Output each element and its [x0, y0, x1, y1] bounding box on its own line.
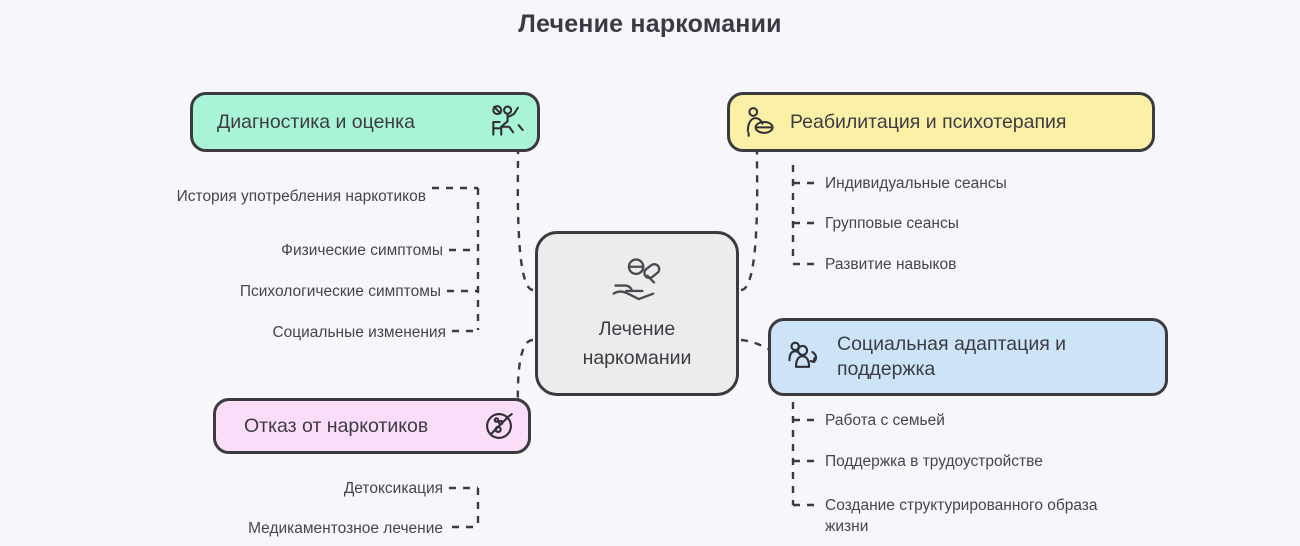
leaf-social-3: Создание структурированного образа жизни	[825, 495, 1130, 537]
leaf-rehab-2: Групповые сеансы	[825, 213, 959, 234]
wire-center-diagnostics	[518, 152, 533, 290]
branch-node-diagnostics[interactable]: Диагностика и оценка	[190, 92, 540, 152]
therapy-person-icon	[744, 105, 778, 139]
leaf-refusal-2: Медикаментозное лечение	[146, 518, 443, 539]
branch-label-refusal: Отказ от наркотиков	[244, 414, 428, 439]
branch-node-social[interactable]: Социальная адаптация и поддержка	[768, 318, 1168, 396]
branch-node-rehab[interactable]: Реабилитация и психотерапия	[727, 92, 1155, 152]
wire-center-rehab	[741, 152, 757, 290]
no-drugs-prohibition-icon	[482, 409, 516, 443]
leaf-diagnostics-1: История употребления наркотиков	[86, 186, 426, 207]
leaf-diagnostics-2: Физические симптомы	[106, 240, 443, 261]
branch-label-social-line1: Социальная адаптация и	[837, 332, 1066, 357]
center-node[interactable]: Лечение наркомании	[535, 231, 739, 396]
branch-node-refusal[interactable]: Отказ от наркотиков	[213, 398, 531, 454]
center-label-line2: наркомании	[583, 346, 692, 371]
mindmap-canvas: Лечение наркомании Диагностика и оценка …	[0, 0, 1300, 546]
branch-label-rehab: Реабилитация и психотерапия	[790, 110, 1067, 135]
hand-holding-pills-icon	[608, 256, 666, 313]
leaf-diagnostics-4: Социальные изменения	[106, 322, 446, 343]
page-title: Лечение наркомании	[0, 10, 1300, 39]
leaf-refusal-1: Детоксикация	[146, 478, 443, 499]
leaf-rehab-1: Индивидуальные сеансы	[825, 173, 1007, 194]
people-support-icon	[787, 339, 823, 375]
branch-label-diagnostics: Диагностика и оценка	[217, 110, 415, 135]
leaf-rehab-3: Развитие навыков	[825, 254, 956, 275]
center-label-line1: Лечение	[599, 317, 676, 342]
seated-person-assessment-icon	[487, 103, 525, 141]
leaf-diagnostics-3: Психологические симптомы	[106, 281, 441, 302]
leaf-social-2: Поддержка в трудоустройстве	[825, 451, 1043, 472]
leaf-social-1: Работа с семьей	[825, 410, 945, 431]
branch-label-social-line2: поддержка	[837, 357, 1066, 382]
